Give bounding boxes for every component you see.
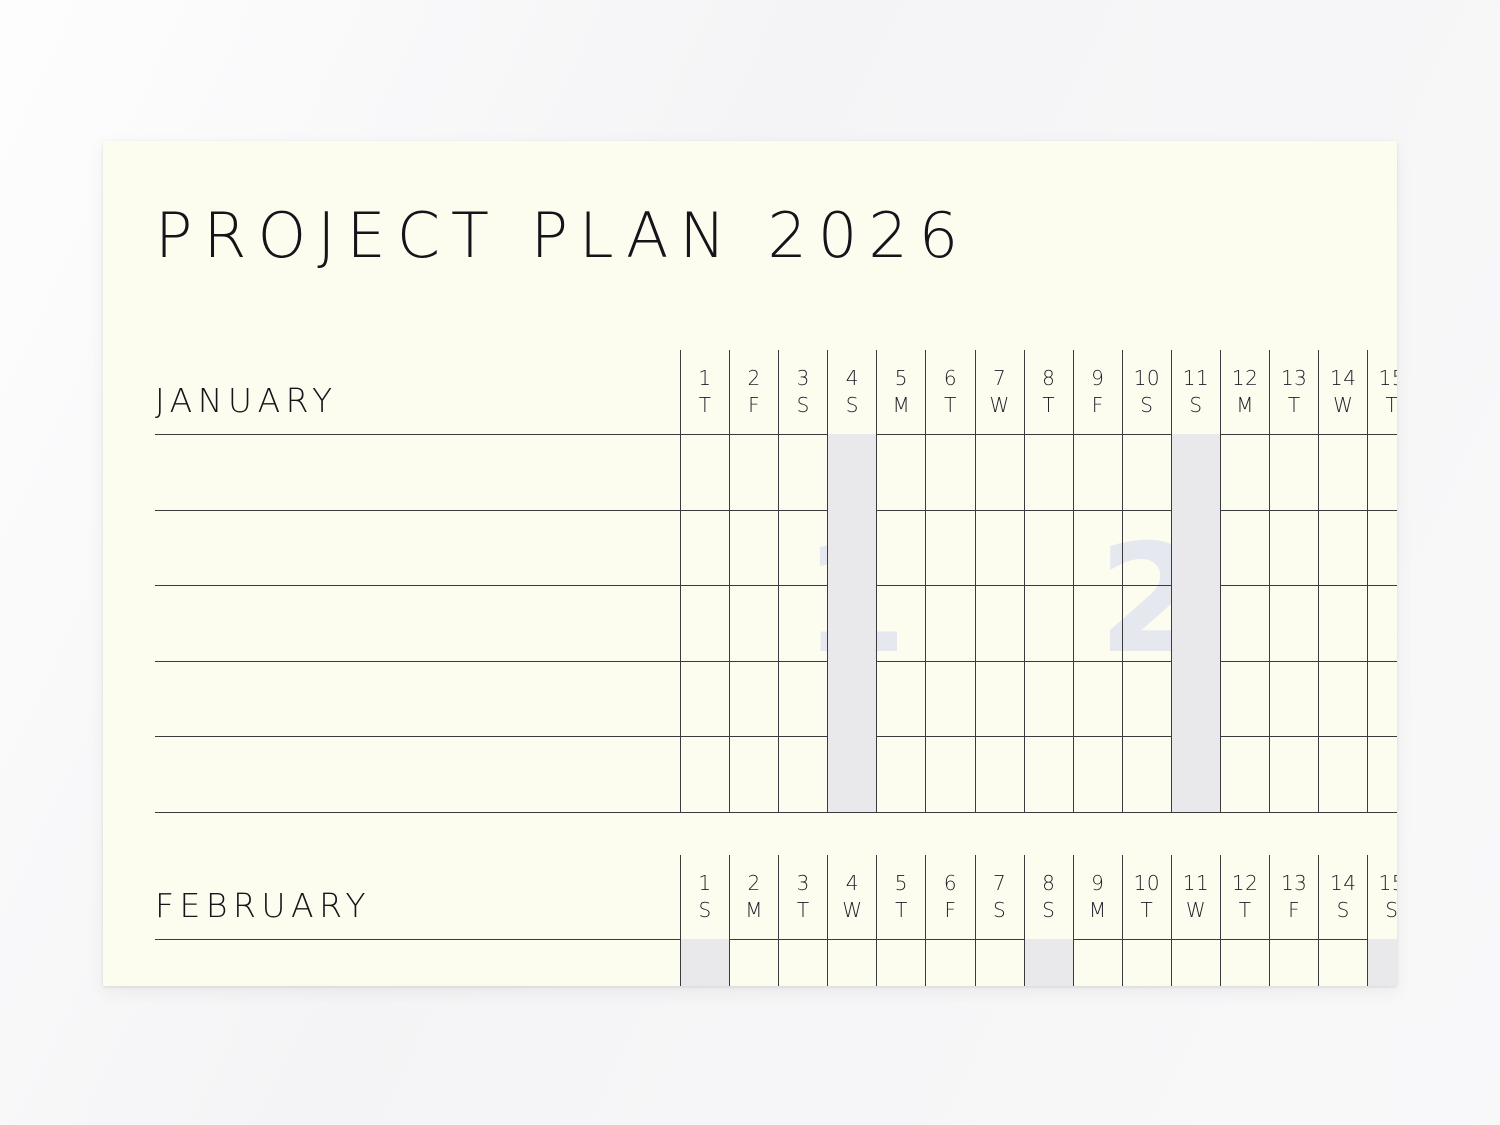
day-cell-stack[interactable] (828, 939, 876, 986)
day-header: 12T (1221, 855, 1269, 939)
day-cell-stack[interactable] (730, 939, 778, 986)
day-column-february-8[interactable]: 8S (1024, 855, 1073, 986)
day-of-week: S (1172, 391, 1220, 419)
day-number: 7 (976, 366, 1024, 391)
day-number: 13 (1270, 366, 1318, 391)
day-column-february-12[interactable]: 12T (1220, 855, 1269, 986)
day-number: 15 (1368, 366, 1397, 391)
day-header: 15T (1368, 350, 1397, 434)
day-header: 7W (976, 350, 1024, 434)
day-column-january-12[interactable]: 12M (1220, 350, 1269, 812)
day-number: 1 (681, 871, 729, 896)
day-column-february-11[interactable]: 11W (1171, 855, 1220, 986)
day-column-february-13[interactable]: 13F (1269, 855, 1318, 986)
day-of-week: W (976, 391, 1024, 419)
day-header: 10S (1123, 350, 1171, 434)
day-cell-stack[interactable] (1270, 939, 1318, 986)
day-number: 15 (1368, 871, 1397, 896)
day-number: 12 (1221, 366, 1269, 391)
day-of-week: F (1074, 391, 1122, 419)
day-number: 3 (779, 871, 827, 896)
day-header: 2M (730, 855, 778, 939)
day-column-february-14[interactable]: 14S (1318, 855, 1367, 986)
day-of-week: S (828, 391, 876, 419)
day-number: 4 (828, 871, 876, 896)
day-column-january-2[interactable]: 2F (729, 350, 778, 812)
day-cell-stack[interactable] (1025, 939, 1073, 986)
day-cell-stack[interactable] (828, 434, 876, 812)
day-number: 10 (1123, 366, 1171, 391)
day-number: 5 (877, 366, 925, 391)
day-header: 6T (926, 350, 974, 434)
day-of-week: S (976, 896, 1024, 924)
day-cell-stack[interactable] (926, 434, 974, 812)
day-of-week: M (1074, 896, 1122, 924)
day-number: 6 (926, 366, 974, 391)
day-column-february-9[interactable]: 9M (1073, 855, 1122, 986)
day-cell-stack[interactable] (877, 939, 925, 986)
day-number: 1 (681, 366, 729, 391)
day-cell-stack[interactable] (1319, 434, 1367, 812)
day-of-week: T (1221, 896, 1269, 924)
day-cell-stack[interactable] (926, 939, 974, 986)
day-header: 12M (1221, 350, 1269, 434)
day-header: 6F (926, 855, 974, 939)
page-title: PROJECT PLAN 2026 (155, 199, 969, 272)
day-cell-stack[interactable] (976, 434, 1024, 812)
day-column-january-6[interactable]: 6T (925, 350, 974, 812)
day-of-week: M (1221, 391, 1269, 419)
day-number: 9 (1074, 871, 1122, 896)
day-column-january-5[interactable]: 5M (876, 350, 925, 812)
day-cell-stack[interactable] (1270, 434, 1318, 812)
day-cell-stack[interactable] (1172, 434, 1220, 812)
day-cell-stack[interactable] (681, 434, 729, 812)
day-number: 10 (1123, 871, 1171, 896)
day-cell-stack[interactable] (1172, 939, 1220, 986)
day-cell-stack[interactable] (1074, 434, 1122, 812)
day-header: 4S (828, 350, 876, 434)
day-number: 3 (779, 366, 827, 391)
day-grid-january: 1T2F3S4S5M6T7W8T9F10S11S12M13T14W15T (680, 350, 1397, 812)
day-of-week: T (681, 391, 729, 419)
day-header: 13T (1270, 350, 1318, 434)
day-header: 14W (1319, 350, 1367, 434)
day-cell-stack[interactable] (1074, 939, 1122, 986)
day-cell-stack[interactable] (779, 939, 827, 986)
day-header: 15S (1368, 855, 1397, 939)
day-of-week: T (1123, 896, 1171, 924)
day-cell-stack[interactable] (1123, 434, 1171, 812)
day-header: 11W (1172, 855, 1220, 939)
day-column-january-8[interactable]: 8T (1024, 350, 1073, 812)
day-column-february-1[interactable]: 1S (680, 855, 729, 986)
month-label-january: JANUARY (155, 381, 338, 420)
month-label-february: FEBRUARY (155, 886, 371, 925)
day-cell-stack[interactable] (976, 939, 1024, 986)
day-grid-february: 1S2M3T4W5T6F7S8S9M10T11W12T13F14S15S (680, 855, 1397, 986)
day-header: 3S (779, 350, 827, 434)
day-number: 12 (1221, 871, 1269, 896)
day-column-january-15[interactable]: 15T (1367, 350, 1397, 812)
day-header: 5M (877, 350, 925, 434)
day-number: 8 (1025, 366, 1073, 391)
day-header: 14S (1319, 855, 1367, 939)
day-column-february-10[interactable]: 10T (1122, 855, 1171, 986)
day-cell-stack[interactable] (1221, 939, 1269, 986)
day-cell-stack[interactable] (779, 434, 827, 812)
day-of-week: M (877, 391, 925, 419)
day-column-january-1[interactable]: 1T (680, 350, 729, 812)
day-of-week: S (1319, 896, 1367, 924)
day-of-week: S (779, 391, 827, 419)
day-header: 9F (1074, 350, 1122, 434)
day-cell-stack[interactable] (730, 434, 778, 812)
day-number: 14 (1319, 366, 1367, 391)
day-of-week: W (1319, 391, 1367, 419)
day-of-week: S (1123, 391, 1171, 419)
day-of-week: W (828, 896, 876, 924)
day-column-january-3[interactable]: 3S (778, 350, 827, 812)
day-header: 13F (1270, 855, 1318, 939)
day-header: 8T (1025, 350, 1073, 434)
day-number: 4 (828, 366, 876, 391)
day-column-january-7[interactable]: 7W (975, 350, 1024, 812)
day-column-january-4[interactable]: 4S (827, 350, 876, 812)
day-number: 13 (1270, 871, 1318, 896)
day-header: 2F (730, 350, 778, 434)
day-column-january-10[interactable]: 10S (1122, 350, 1171, 812)
day-header: 7S (976, 855, 1024, 939)
day-header: 1S (681, 855, 729, 939)
day-of-week: T (1025, 391, 1073, 419)
day-of-week: W (1172, 896, 1220, 924)
day-header: 5T (877, 855, 925, 939)
day-of-week: S (1025, 896, 1073, 924)
day-number: 2 (730, 871, 778, 896)
day-number: 9 (1074, 366, 1122, 391)
day-number: 2 (730, 366, 778, 391)
planner-card: PROJECT PLAN 2026 JANUARY 123 1T2F3S4S5M… (103, 141, 1397, 986)
day-of-week: T (877, 896, 925, 924)
day-cell-stack[interactable] (1368, 939, 1397, 986)
day-number: 11 (1172, 366, 1220, 391)
day-number: 14 (1319, 871, 1367, 896)
day-column-february-7[interactable]: 7S (975, 855, 1024, 986)
day-number: 6 (926, 871, 974, 896)
day-cell-stack[interactable] (877, 434, 925, 812)
day-of-week: T (779, 896, 827, 924)
day-column-february-4[interactable]: 4W (827, 855, 876, 986)
day-cell-stack[interactable] (1025, 434, 1073, 812)
day-cell-stack[interactable] (1368, 434, 1397, 812)
day-header: 1T (681, 350, 729, 434)
day-cell-stack[interactable] (1319, 939, 1367, 986)
day-number: 8 (1025, 871, 1073, 896)
day-column-february-2[interactable]: 2M (729, 855, 778, 986)
day-header: 9M (1074, 855, 1122, 939)
day-header: 4W (828, 855, 876, 939)
day-number: 5 (877, 871, 925, 896)
day-header: 8S (1025, 855, 1073, 939)
day-column-january-14[interactable]: 14W (1318, 350, 1367, 812)
day-cell-stack[interactable] (681, 939, 729, 986)
day-column-january-13[interactable]: 13T (1269, 350, 1318, 812)
day-column-february-5[interactable]: 5T (876, 855, 925, 986)
day-of-week: T (1368, 391, 1397, 419)
day-of-week: T (1270, 391, 1318, 419)
day-column-january-9[interactable]: 9F (1073, 350, 1122, 812)
day-of-week: F (730, 391, 778, 419)
day-number: 7 (976, 871, 1024, 896)
day-of-week: F (1270, 896, 1318, 924)
day-header: 10T (1123, 855, 1171, 939)
day-cell-stack[interactable] (1123, 939, 1171, 986)
day-of-week: F (926, 896, 974, 924)
day-number: 11 (1172, 871, 1220, 896)
day-of-week: M (730, 896, 778, 924)
day-of-week: T (926, 391, 974, 419)
day-header: 11S (1172, 350, 1220, 434)
day-column-january-11[interactable]: 11S (1171, 350, 1220, 812)
day-cell-stack[interactable] (1221, 434, 1269, 812)
day-of-week: S (1368, 896, 1397, 924)
day-header: 3T (779, 855, 827, 939)
day-column-february-6[interactable]: 6F (925, 855, 974, 986)
day-of-week: S (681, 896, 729, 924)
day-column-february-15[interactable]: 15S (1367, 855, 1397, 986)
day-column-february-3[interactable]: 3T (778, 855, 827, 986)
